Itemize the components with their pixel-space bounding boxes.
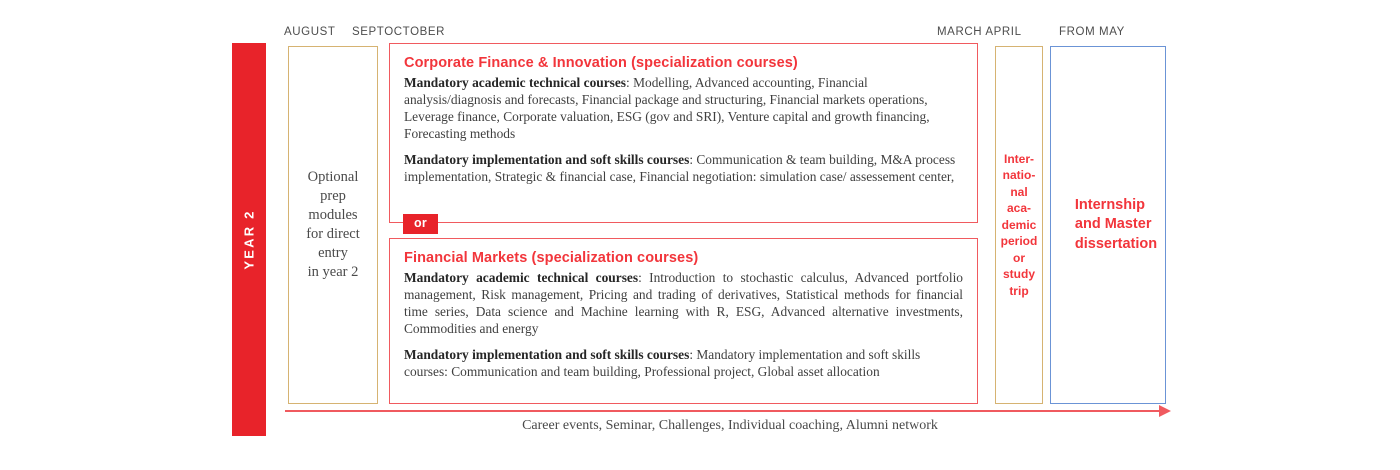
month-label-from-may: FROM MAY: [1059, 27, 1125, 39]
specialization-box-corporate-finance: Corporate Finance & Innovation (speciali…: [389, 43, 978, 223]
month-label-septoctober: SEPTOCTOBER: [352, 27, 445, 39]
paragraph-lead: Mandatory implementation and soft skills…: [404, 152, 689, 167]
or-badge: or: [403, 214, 438, 234]
paragraph-lead: Mandatory implementation and soft skills…: [404, 347, 689, 362]
specialization-title-financial-markets: Financial Markets (specialization course…: [404, 250, 963, 267]
specialization-paragraph: Mandatory academic technical courses: In…: [404, 270, 963, 338]
specialization-paragraph: Mandatory implementation and soft skills…: [404, 347, 963, 381]
optional-prep-modules-column: Optional prep modules for direct entry i…: [288, 46, 378, 404]
international-period-column: Inter- natio- nal aca- demic period or s…: [995, 46, 1043, 404]
specialization-title-corporate-finance: Corporate Finance & Innovation (speciali…: [404, 55, 963, 72]
program-timeline-diagram: AUGUST SEPTOCTOBER MARCH APRIL FROM MAY …: [0, 0, 1400, 470]
internship-dissertation-box: Internship and Master dissertation: [1050, 46, 1166, 404]
specialization-paragraph: Mandatory implementation and soft skills…: [404, 152, 963, 186]
arrow-line: [285, 410, 1163, 412]
internship-dissertation-text: Internship and Master dissertation: [1059, 196, 1157, 255]
paragraph-lead: Mandatory academic technical courses: [404, 270, 638, 285]
arrow-head-icon: [1159, 405, 1171, 417]
specialization-paragraph: Mandatory academic technical courses: Mo…: [404, 75, 963, 143]
specialization-box-financial-markets: Financial Markets (specialization course…: [389, 238, 978, 404]
year-label-text: YEAR 2: [242, 209, 257, 269]
month-label-march-april: MARCH APRIL: [937, 27, 1022, 39]
month-label-august: AUGUST: [284, 27, 336, 39]
optional-prep-modules-text: Optional prep modules for direct entry i…: [306, 168, 360, 283]
paragraph-lead: Mandatory academic technical courses: [404, 75, 626, 90]
career-events-caption: Career events, Seminar, Challenges, Indi…: [285, 418, 1175, 435]
year-label-bar: YEAR 2: [232, 43, 266, 436]
international-period-text: Inter- natio- nal aca- demic period or s…: [1001, 151, 1038, 300]
career-events-arrow: [285, 405, 1175, 419]
